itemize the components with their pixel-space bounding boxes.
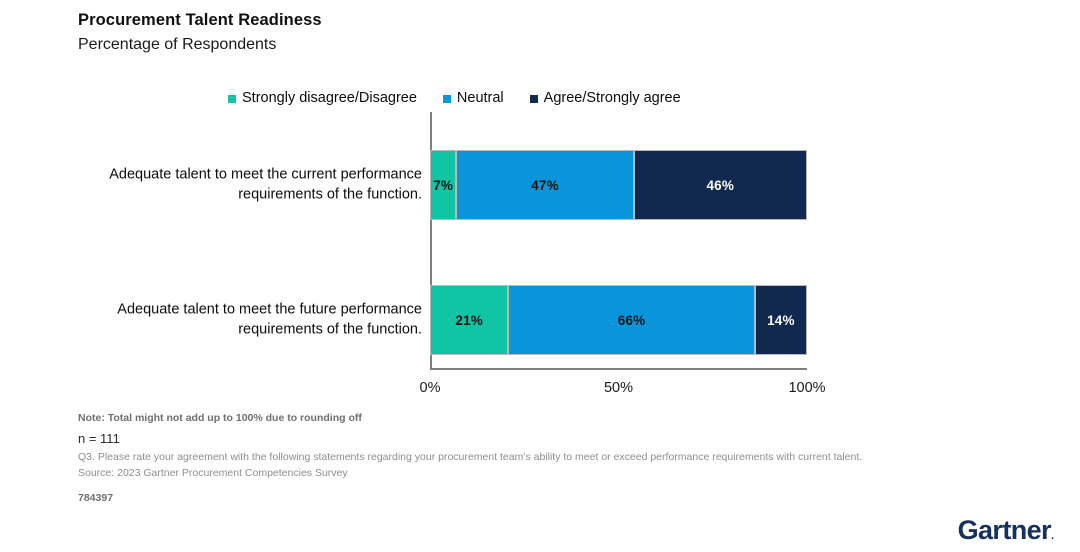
bar-row: Adequate talent to meet the current perf… bbox=[0, 150, 1080, 220]
x-tick-label: 0% bbox=[420, 380, 441, 396]
legend-swatch-icon bbox=[530, 95, 538, 103]
stacked-bar: 7%47%46% bbox=[430, 150, 807, 220]
bar-segment[interactable]: 46% bbox=[634, 150, 807, 220]
source-text: Source: 2023 Gartner Procurement Compete… bbox=[78, 466, 978, 482]
question-text: Q3. Please rate your agreement with the … bbox=[78, 450, 978, 466]
bar-row: Adequate talent to meet the future perfo… bbox=[0, 285, 1080, 355]
chart-legend: Strongly disagree/DisagreeNeutralAgree/S… bbox=[228, 88, 681, 108]
page-title: Procurement Talent Readiness bbox=[78, 10, 322, 31]
footnotes: Note: Total might not add up to 100% due… bbox=[78, 411, 978, 504]
gartner-logo: Gartner. bbox=[958, 515, 1054, 546]
category-label: Adequate talent to meet the current perf… bbox=[92, 165, 422, 204]
bar-value-label: 7% bbox=[433, 178, 453, 193]
page-subtitle: Percentage of Respondents bbox=[78, 33, 322, 56]
legend-item-label: Neutral bbox=[457, 90, 504, 106]
legend-item[interactable]: Neutral bbox=[443, 90, 504, 106]
legend-item[interactable]: Strongly disagree/Disagree bbox=[228, 90, 417, 106]
bar-value-label: 21% bbox=[455, 313, 483, 328]
bar-value-label: 66% bbox=[618, 313, 646, 328]
x-axis-line bbox=[430, 368, 807, 370]
bar-value-label: 47% bbox=[531, 178, 559, 193]
bar-segment[interactable]: 14% bbox=[755, 285, 807, 355]
x-tick-label: 100% bbox=[788, 380, 825, 396]
bar-value-label: 46% bbox=[706, 178, 734, 193]
registered-mark: . bbox=[1051, 530, 1054, 542]
legend-swatch-icon bbox=[228, 95, 236, 103]
legend-item[interactable]: Agree/Strongly agree bbox=[530, 90, 681, 106]
bar-segment[interactable]: 21% bbox=[430, 285, 508, 355]
title-block: Procurement Talent Readiness Percentage … bbox=[78, 10, 322, 57]
x-axis-tick-labels: 0%50%100% bbox=[430, 380, 807, 400]
legend-item-label: Strongly disagree/Disagree bbox=[242, 90, 417, 106]
chart-plot-area: Adequate talent to meet the current perf… bbox=[0, 112, 1080, 392]
legend-swatch-icon bbox=[443, 95, 451, 103]
bar-segment[interactable]: 47% bbox=[456, 150, 633, 220]
rounding-note: Note: Total might not add up to 100% due… bbox=[78, 411, 978, 427]
category-label: Adequate talent to meet the future perfo… bbox=[92, 300, 422, 339]
x-tick-label: 50% bbox=[604, 380, 633, 396]
bar-segment[interactable]: 66% bbox=[508, 285, 754, 355]
bar-segment[interactable]: 7% bbox=[430, 150, 456, 220]
stacked-bar: 21%66%14% bbox=[430, 285, 807, 355]
legend-item-label: Agree/Strongly agree bbox=[544, 90, 681, 106]
sample-size: n = 111 bbox=[78, 429, 978, 449]
bar-value-label: 14% bbox=[767, 313, 795, 328]
brand-name: Gartner bbox=[958, 515, 1051, 545]
chart-id: 784397 bbox=[78, 492, 978, 504]
